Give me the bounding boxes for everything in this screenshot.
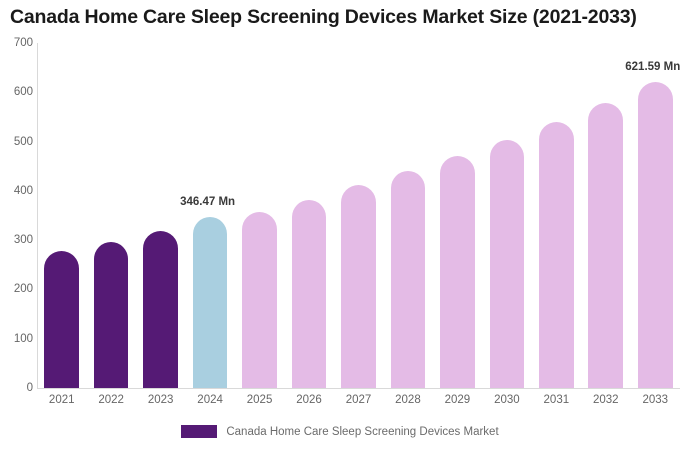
bar[interactable] [193,217,228,388]
y-axis-tick-label: 0 [3,382,33,394]
legend-item[interactable]: Canada Home Care Sleep Screening Devices… [181,425,498,438]
bar-shape [193,217,228,388]
chart-container: Canada Home Care Sleep Screening Devices… [0,0,680,450]
legend-label: Canada Home Care Sleep Screening Devices… [226,426,498,438]
bar[interactable] [588,103,623,388]
x-axis-tick-label: 2027 [334,394,383,406]
bar-shape [94,242,129,388]
bar[interactable] [143,231,178,388]
bar-shape [292,200,327,388]
x-axis-tick-label: 2032 [581,394,630,406]
x-axis-tick-label: 2028 [383,394,432,406]
y-axis-tick-label: 100 [3,333,33,345]
bar-shape [539,122,574,388]
y-axis: 0100200300400500600700 [0,0,33,450]
y-axis-tick-label: 200 [3,283,33,295]
bar-shape [638,82,673,388]
y-axis-tick-label: 500 [3,136,33,148]
bar[interactable] [94,242,129,388]
bar-shape [490,140,525,388]
bar[interactable] [242,212,277,388]
x-axis-tick-label: 2033 [631,394,680,406]
bar[interactable] [440,156,475,388]
bar[interactable] [292,200,327,388]
bar-shape [44,251,79,388]
data-label: 346.47 Mn [180,196,235,208]
chart-title: Canada Home Care Sleep Screening Devices… [10,6,680,29]
x-axis-line [37,388,680,389]
x-axis-tick-label: 2025 [235,394,284,406]
bar[interactable] [638,82,673,388]
bar[interactable] [44,251,79,388]
x-axis-tick-label: 2029 [433,394,482,406]
y-axis-tick-label: 700 [3,37,33,49]
y-axis-tick-label: 400 [3,185,33,197]
chart-legend: Canada Home Care Sleep Screening Devices… [0,425,680,438]
bar[interactable] [490,140,525,388]
x-axis-tick-label: 2023 [136,394,185,406]
x-axis-tick-label: 2021 [37,394,86,406]
bar-shape [588,103,623,388]
plot-area [37,43,680,388]
bar-shape [143,231,178,388]
x-axis-tick-label: 2022 [86,394,135,406]
x-axis-tick-label: 2024 [185,394,234,406]
y-axis-tick-label: 600 [3,86,33,98]
bar[interactable] [391,171,426,388]
bar-shape [242,212,277,388]
x-axis-tick-label: 2031 [532,394,581,406]
legend-color-swatch [181,425,217,438]
bar[interactable] [539,122,574,388]
bar[interactable] [341,185,376,388]
x-axis-tick-label: 2026 [284,394,333,406]
data-label: 621.59 Mn [625,61,680,73]
bar-shape [440,156,475,388]
bar-shape [391,171,426,388]
bar-shape [341,185,376,388]
x-axis-tick-label: 2030 [482,394,531,406]
y-axis-tick-label: 300 [3,234,33,246]
